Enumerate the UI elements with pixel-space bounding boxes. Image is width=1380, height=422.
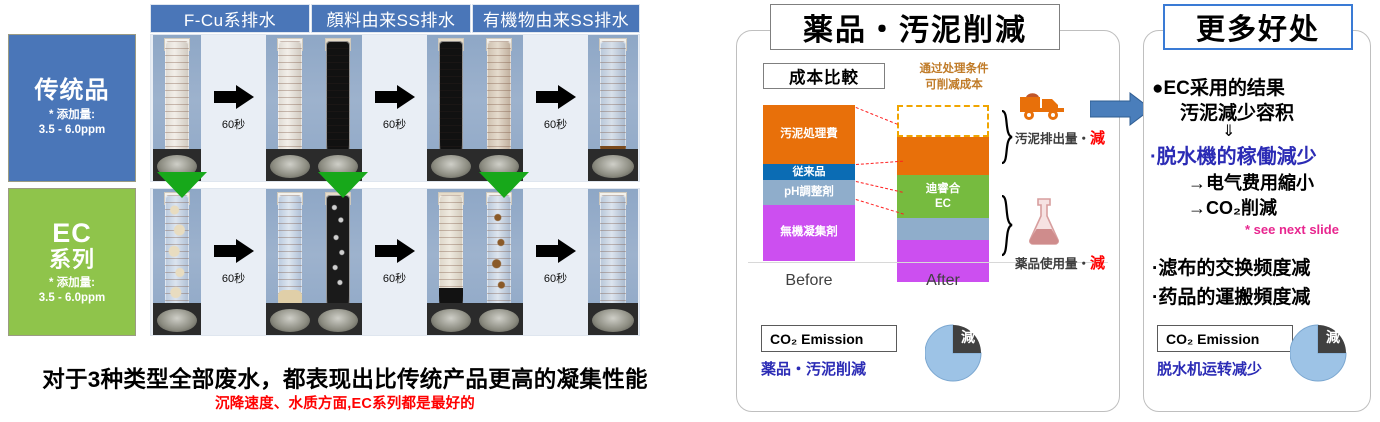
transition-pigment-ec: 60秒: [362, 189, 427, 335]
green-down-arrow-f-cu: [157, 172, 207, 198]
photo-pigment-after-ec: [427, 189, 475, 335]
segment-ec-label: 迪睿合 EC: [926, 182, 961, 211]
orange-note-line2: 可削减成本: [895, 78, 1013, 94]
pie-badge-mid: 減: [961, 329, 975, 345]
photo-organic-before-ec: [475, 189, 523, 335]
mid-box-header: 薬品・汚泥削減: [770, 4, 1060, 50]
category-sub1-traditional: * 添加量:: [49, 108, 95, 123]
photo-organic-after-traditional: [588, 35, 638, 181]
right-line-down-arrow: ⇓: [1222, 121, 1235, 141]
axis-label-before: Before: [749, 272, 869, 290]
left-panel: F-Cu系排水 顔料由来SS排水 有機物由来SS排水 传统品 * 添加量: 3.…: [0, 0, 700, 422]
caption-main: 对于3种类型全部废水，都表现出比传统产品更高的凝集性能: [0, 362, 690, 394]
photo-f-cu-after-traditional: [266, 35, 314, 181]
slide-root: F-Cu系排水 顔料由来SS排水 有機物由来SS排水 传统品 * 添加量: 3.…: [0, 0, 1380, 422]
co2-chip-right: CO₂ Emission: [1157, 325, 1293, 352]
truck-icon: [1018, 86, 1068, 122]
time-label: 60秒: [544, 270, 567, 286]
photo-pigment-after-traditional: [427, 35, 475, 181]
black-arrow-icon: [536, 85, 576, 109]
column-header-pigment-ss: 顔料由来SS排水: [311, 4, 471, 33]
category-box-ec: EC 系列 * 添加量: 3.5 - 6.0ppm: [8, 188, 136, 336]
label-sludge-discharge-accent: 減: [1090, 130, 1105, 147]
pie-chart-right: 減: [1290, 322, 1346, 378]
segment-ec-after: 迪睿合 EC: [897, 175, 989, 218]
bar-before: 汚泥処理費 従来品 pH調整剤 無機凝集剤: [763, 105, 855, 261]
category-title-traditional: 传统品: [35, 78, 110, 105]
bar-after: 迪睿合 EC: [897, 105, 989, 261]
photo-organic-after-ec: [588, 189, 638, 335]
photo-pigment-before-ec: [314, 189, 362, 335]
category-title-ec-line2: 系列: [49, 248, 95, 273]
brace-sludge: [1000, 110, 1013, 165]
photo-organic-before-traditional: [475, 35, 523, 181]
transition-organic-traditional: 60秒: [523, 35, 588, 181]
caption-sub: 沉降速度、水质方面,EC系列都是最好的: [0, 392, 690, 413]
co2-note-mid: 薬品・汚泥削減: [761, 358, 866, 379]
axis-label-after: After: [883, 272, 1003, 290]
right-box-header: 更多好处: [1163, 4, 1353, 50]
label-sludge-discharge-text: 汚泥排出量・: [1015, 132, 1090, 146]
right-line-sludge-volume: 汚泥減少容积: [1180, 98, 1294, 125]
segment-inorganic-coagulant-before: 無機凝集剤: [763, 205, 855, 261]
transition-f-cu-ec: 60秒: [201, 189, 266, 335]
right-line-chemical-transport: ·药品的運搬頻度减: [1152, 282, 1310, 309]
black-arrow-icon: [375, 239, 415, 263]
time-label: 60秒: [383, 116, 406, 132]
segment-sludge-treatment-before: 汚泥処理費: [763, 105, 855, 164]
flask-icon: [1027, 196, 1061, 248]
right-line-co2-reduction: →CO₂削減: [1188, 194, 1277, 220]
label-chemical-usage-text: 薬品使用量・: [1015, 257, 1090, 271]
label-chemical-usage: 薬品使用量・減: [1015, 252, 1105, 273]
right-line-see-next-slide: * see next slide: [1245, 222, 1339, 237]
black-arrow-icon: [214, 239, 254, 263]
black-arrow-icon: [536, 239, 576, 263]
category-sub2-traditional: 3.5 - 6.0ppm: [39, 123, 105, 138]
time-label: 60秒: [544, 116, 567, 132]
segment-ph-adjuster-before: pH調整剤: [763, 180, 855, 205]
co2-chip-mid: CO₂ Emission: [761, 325, 897, 352]
time-label: 60秒: [222, 270, 245, 286]
right-line-filter-cloth: ·滤布的交换频度减: [1152, 253, 1310, 280]
co2-note-right: 脱水机运转减少: [1157, 358, 1262, 379]
cost-comparison-chip: 成本比較: [763, 63, 885, 89]
photo-pigment-before-traditional: [314, 35, 362, 181]
orange-note: 通过处理条件 可削减成本: [895, 62, 1013, 93]
black-arrow-icon: [375, 85, 415, 109]
category-sub1-ec: * 添加量:: [49, 276, 95, 291]
photo-f-cu-before-traditional: [153, 35, 201, 181]
photo-row-traditional: 60秒 60秒: [150, 34, 640, 182]
photo-row-ec: 60秒: [150, 188, 640, 336]
transition-organic-ec: 60秒: [523, 189, 588, 335]
column-header-f-cu: F-Cu系排水: [150, 4, 310, 33]
category-title-ec-line1: EC: [52, 218, 92, 248]
category-box-traditional: 传统品 * 添加量: 3.5 - 6.0ppm: [8, 34, 136, 182]
label-chemical-usage-accent: 減: [1090, 255, 1105, 272]
column-header-organic-ss: 有機物由来SS排水: [472, 4, 640, 33]
category-sub2-ec: 3.5 - 6.0ppm: [39, 291, 105, 306]
black-arrow-icon: [214, 85, 254, 109]
segment-conventional-before: 従来品: [763, 164, 855, 180]
segment-reducible-cost-after: [897, 105, 989, 137]
brace-chemical: [1000, 195, 1013, 257]
orange-note-line1: 通过处理条件: [895, 62, 1013, 78]
pie-chart-mid: 減: [925, 322, 981, 378]
right-line-dehydrator: ·脱水機的稼働減少: [1150, 140, 1317, 169]
green-down-arrow-organic: [479, 172, 529, 198]
time-label: 60秒: [383, 270, 406, 286]
photo-f-cu-after-ec: [266, 189, 314, 335]
right-line-ec-result: ●EC采用的结果: [1152, 73, 1285, 100]
green-down-arrow-pigment: [318, 172, 368, 198]
right-line-electricity: →电气费用縮小: [1188, 169, 1314, 195]
time-label: 60秒: [222, 116, 245, 132]
transition-pigment-traditional: 60秒: [362, 35, 427, 181]
segment-ph-adjuster-after: [897, 218, 989, 240]
segment-sludge-treatment-after: [897, 137, 989, 175]
transition-f-cu-traditional: 60秒: [201, 35, 266, 181]
photo-f-cu-before-ec: [153, 189, 201, 335]
label-sludge-discharge: 汚泥排出量・減: [1015, 127, 1105, 148]
pie-badge-right: 減: [1326, 329, 1340, 345]
